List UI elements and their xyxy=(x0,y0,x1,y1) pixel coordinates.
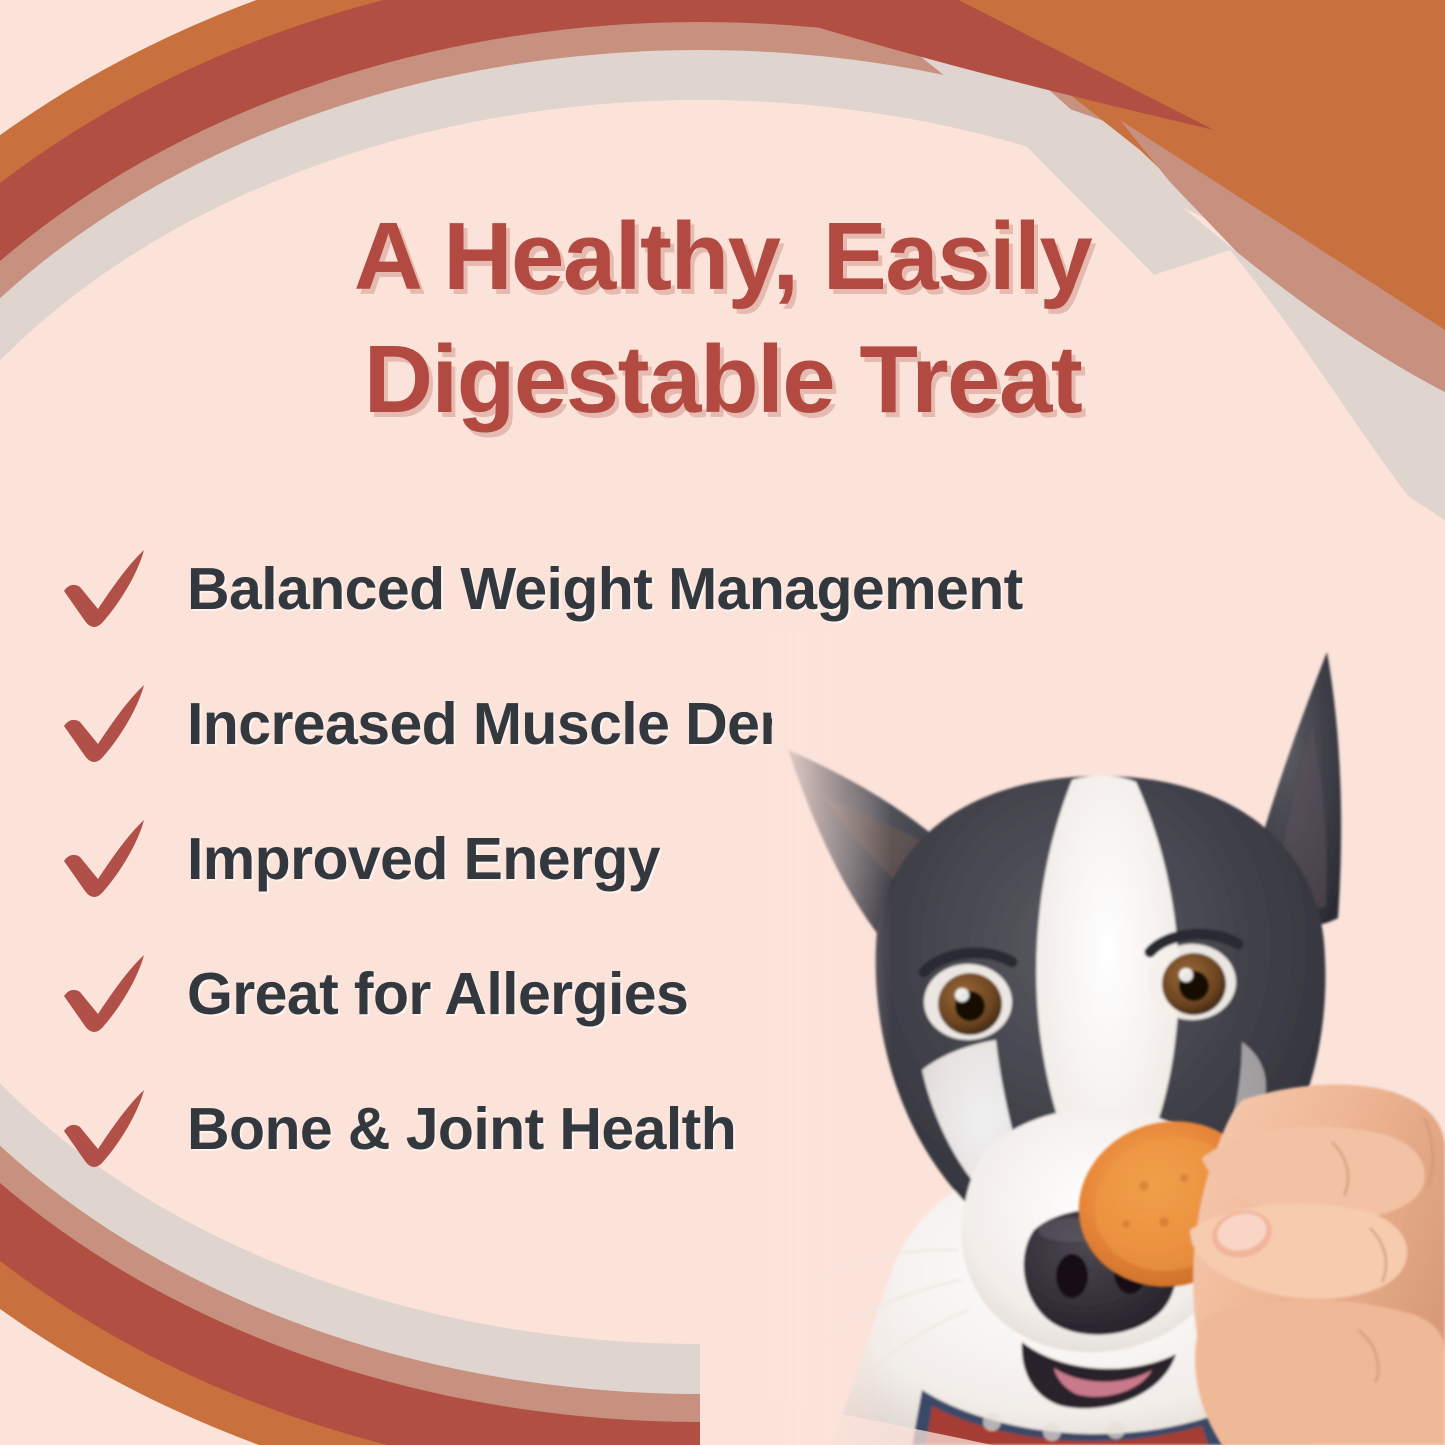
dog-photo xyxy=(772,630,1445,1445)
list-item-label: Improved Energy xyxy=(187,825,660,893)
checkmark-icon xyxy=(52,547,187,631)
list-item-label: Balanced Weight Management xyxy=(187,555,1023,623)
list-item-label: Bone & Joint Health xyxy=(187,1095,736,1163)
promo-graphic: A Healthy, Easily Digestable Treat Balan… xyxy=(0,0,1445,1445)
checkmark-icon xyxy=(52,817,187,901)
checkmark-icon xyxy=(52,682,187,766)
checkmark-icon xyxy=(52,952,187,1036)
checkmark-icon xyxy=(52,1087,187,1171)
list-item-label: Great for Allergies xyxy=(187,960,688,1028)
